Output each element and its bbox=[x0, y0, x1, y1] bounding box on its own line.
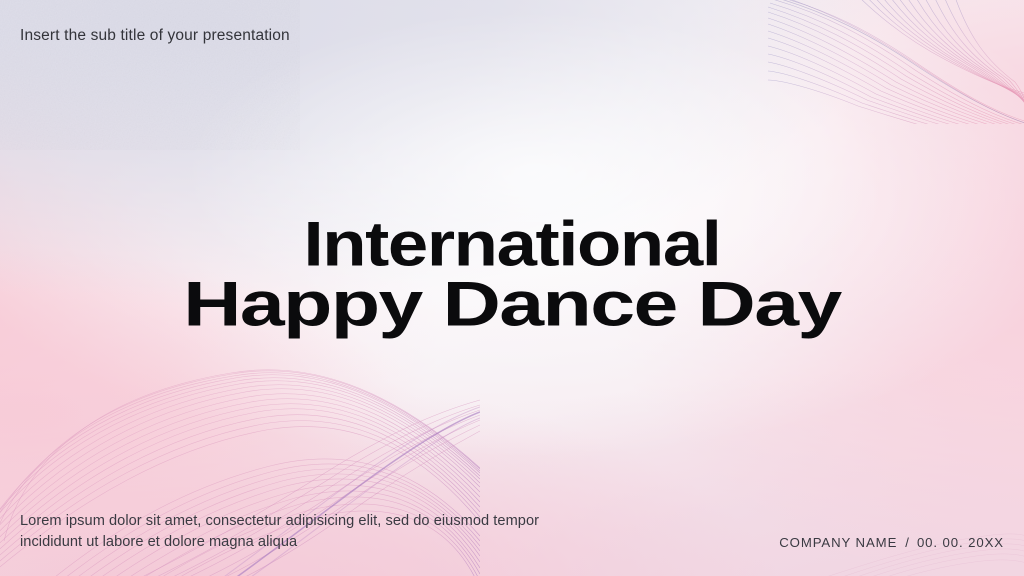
slide-title-line-1: International bbox=[0, 215, 1024, 274]
guilloche-wave-bottom-right-icon bbox=[804, 466, 1024, 576]
body-text-line-2: incididunt ut labore et dolore magna ali… bbox=[20, 532, 539, 554]
presentation-slide: Insert the sub title of your presentatio… bbox=[0, 0, 1024, 576]
slide-subtitle: Insert the sub title of your presentatio… bbox=[20, 26, 290, 46]
body-text-line-1: Lorem ipsum dolor sit amet, consectetur … bbox=[20, 511, 539, 533]
slide-title-line-2: Happy Dance Day bbox=[0, 276, 1024, 335]
slide-title-block: International Happy Dance Day bbox=[0, 216, 1024, 335]
footer-separator: / bbox=[905, 535, 909, 550]
guilloche-wave-top-right-icon bbox=[768, 0, 1024, 124]
film-grain-texture bbox=[0, 0, 300, 150]
slide-body-text: Lorem ipsum dolor sit amet, consectetur … bbox=[20, 511, 539, 554]
footer-date: 00. 00. 20XX bbox=[917, 535, 1004, 550]
slide-footer: COMPANY NAME / 00. 00. 20XX bbox=[779, 535, 1004, 550]
footer-company-name: COMPANY NAME bbox=[779, 535, 897, 550]
